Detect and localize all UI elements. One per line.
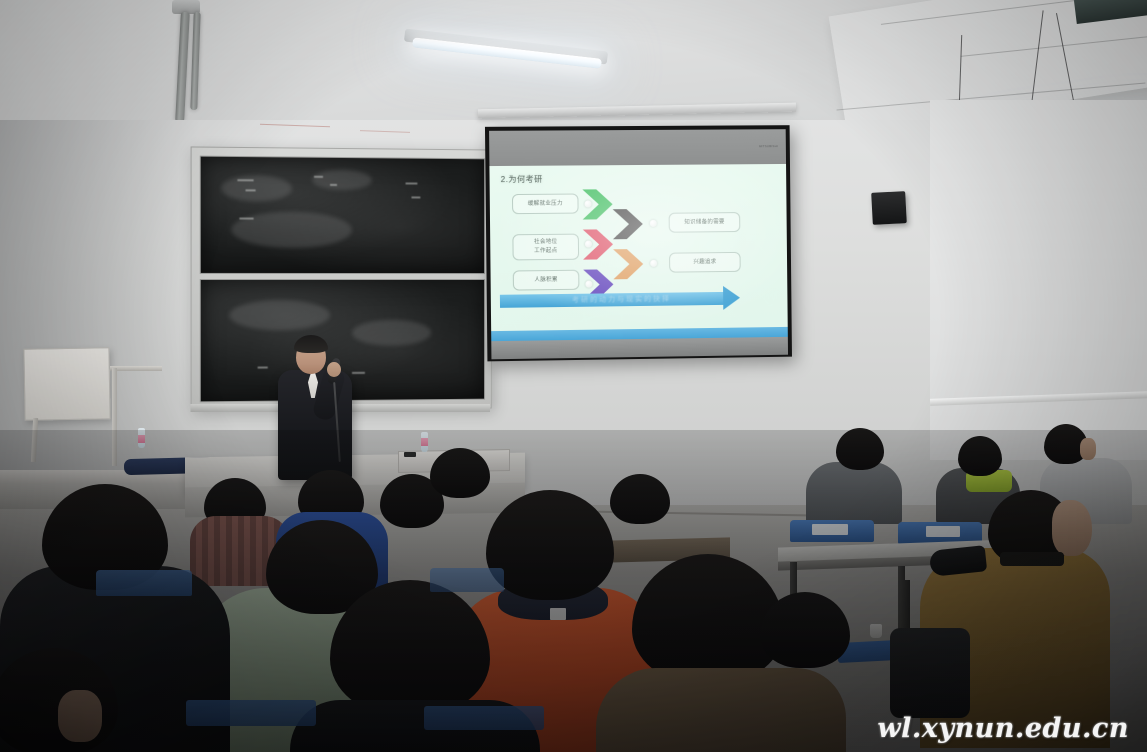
chair-seat[interactable] — [186, 700, 316, 726]
screen-blank-area: MITSUBISHI — [489, 129, 786, 166]
slide-banner-arrowhead — [723, 286, 740, 310]
body — [596, 668, 846, 752]
backpack — [890, 628, 970, 718]
chair-sticker — [812, 524, 848, 535]
photo-scene: MITSUBISHI 2.为何考研 缓解就业压力 社会地位 工作起点 人脉积累 … — [0, 0, 1147, 752]
projection-screen[interactable]: MITSUBISHI 2.为何考研 缓解就业压力 社会地位 工作起点 人脉积累 … — [485, 125, 792, 361]
audience-head — [610, 474, 670, 524]
head — [958, 436, 1002, 476]
slide-left-box-2: 社会地位 工作起点 — [512, 234, 579, 261]
bottle-label — [138, 435, 145, 443]
body — [806, 462, 902, 524]
bottle-label — [421, 438, 428, 446]
water-bottle — [421, 432, 428, 452]
slide-right-box-2: 兴趣追求 — [669, 252, 741, 273]
desk-cup — [870, 624, 882, 638]
slide-left-box-1: 缓解就业压力 — [512, 194, 579, 215]
chair-seat[interactable] — [424, 706, 544, 730]
chalkboard-upper-pane — [200, 156, 485, 274]
hoodie-tag — [550, 608, 566, 620]
water-bottle — [138, 428, 145, 448]
slide-right-box-1: 知识储备的需要 — [669, 212, 741, 233]
slide-left-box-2-line2: 工作起点 — [534, 247, 557, 256]
wall-speaker — [871, 191, 907, 225]
slide-left-box-3: 人脉积累 — [513, 270, 580, 291]
chevron-gray-node — [650, 220, 657, 227]
right-wall — [930, 100, 1147, 460]
chair-back[interactable] — [96, 570, 192, 596]
face — [1080, 438, 1096, 460]
slide-canvas: 2.为何考研 缓解就业压力 社会地位 工作起点 人脉积累 知识储备的需要 兴趣追… — [489, 164, 787, 331]
chair-back[interactable] — [430, 568, 504, 592]
chevron-orange — [613, 249, 643, 279]
face — [58, 690, 102, 742]
head — [836, 428, 884, 470]
chevron-gray — [613, 209, 643, 239]
slide-left-box-2-line1: 社会地位 — [534, 238, 557, 247]
audience-head — [430, 448, 490, 498]
podium-object — [404, 452, 416, 457]
chevron-purple-node — [585, 281, 592, 288]
conduit-pipe — [112, 368, 117, 466]
screen-bottom-bar — [491, 337, 788, 359]
chevron-orange-node — [650, 260, 657, 267]
presenter-hand — [327, 362, 341, 377]
collar — [1000, 552, 1064, 566]
conduit-pipe — [110, 366, 162, 371]
slide-title: 2.为何考研 — [501, 174, 543, 185]
face — [1052, 500, 1092, 556]
electrical-box — [23, 347, 110, 420]
chevron-red-node — [585, 240, 592, 247]
screen-brand-logo: MITSUBISHI — [759, 144, 778, 148]
chevron-green-node — [585, 200, 592, 207]
chair-sticker — [926, 526, 960, 537]
